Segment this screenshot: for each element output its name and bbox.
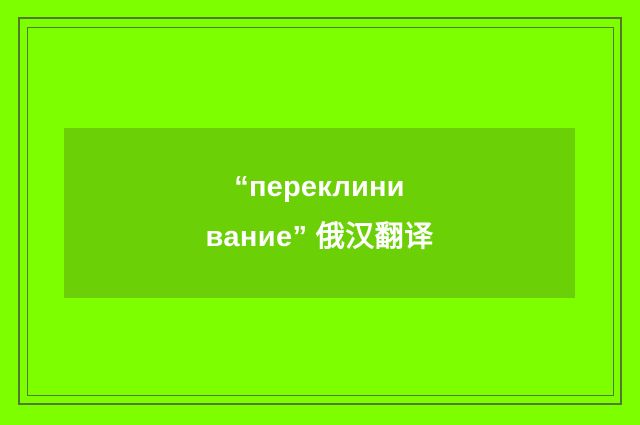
title-line-2: вание” 俄汉翻译: [205, 213, 433, 263]
poster-canvas: “переклини вание” 俄汉翻译: [0, 0, 640, 425]
title-panel: “переклини вание” 俄汉翻译: [64, 128, 575, 298]
title-line-1: “переклини: [234, 163, 404, 213]
